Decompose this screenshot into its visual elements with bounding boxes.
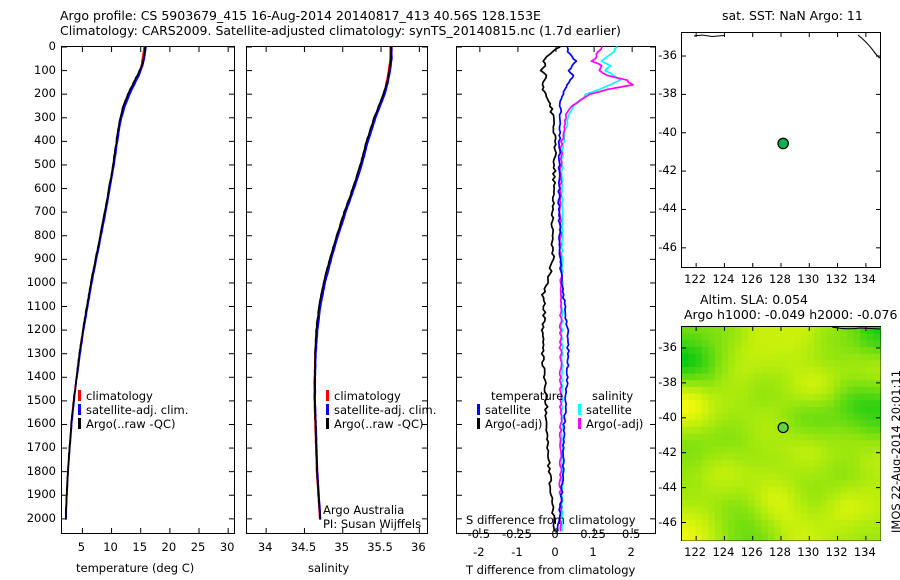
tick-label: -40 xyxy=(643,410,677,424)
tick-label: 0.25 xyxy=(574,527,612,541)
temperature-legend: climatologysatellite-adj. clim.Argo(..ra… xyxy=(78,389,188,431)
legend-item: climatology xyxy=(78,389,188,403)
tick-label: 128 xyxy=(768,545,792,559)
tick-label: 126 xyxy=(740,272,764,286)
tick-label: 15 xyxy=(131,540,149,554)
figure-title-line2: Climatology: CARS2009. Satellite-adjuste… xyxy=(60,23,621,38)
tick-label: 200 xyxy=(8,86,56,100)
tick-label: 128 xyxy=(768,272,792,286)
temperature-axis-label: temperature (deg C) xyxy=(76,561,194,575)
legend-label: climatology xyxy=(86,389,153,403)
tick-label: 122 xyxy=(683,545,707,559)
tick-label: -42 xyxy=(643,163,677,177)
tick-label: 132 xyxy=(825,545,849,559)
legend-label: satellite xyxy=(485,403,531,417)
tick-label: 800 xyxy=(8,228,56,242)
legend-label: satellite-adj. clim. xyxy=(86,403,188,417)
salinity-axis-label: salinity xyxy=(308,561,349,575)
sla-map-panel xyxy=(681,326,881,541)
tick-label: 400 xyxy=(8,133,56,147)
tick-label: 0 xyxy=(543,545,567,559)
sla-map-title-line1: Altim. SLA: 0.054 xyxy=(700,292,808,307)
tick-label: -42 xyxy=(643,445,677,459)
sla-map-title-line2: Argo h1000: -0.049 h2000: -0.076 xyxy=(684,307,897,322)
tick-label: -38 xyxy=(643,86,677,100)
legend-item: Argo(-adj) xyxy=(477,417,563,431)
legend-label: Argo(..raw -QC) xyxy=(334,417,424,431)
salinity-profile-panel xyxy=(246,46,428,534)
tick-label: 124 xyxy=(711,272,735,286)
legend-heading: temperature xyxy=(477,389,563,403)
legend-item: satellite-adj. clim. xyxy=(326,403,436,417)
tick-label: 134 xyxy=(853,272,877,286)
temperature-difference-axis-label: T difference from climatology xyxy=(466,563,635,577)
tick-label: -2 xyxy=(467,545,491,559)
temperature-profile-plot xyxy=(62,47,234,533)
tick-label: 20 xyxy=(160,540,178,554)
tick-label: 2000 xyxy=(8,511,56,525)
tick-label: 100 xyxy=(8,63,56,77)
tick-label: 34.5 xyxy=(287,540,319,554)
tick-label: 1500 xyxy=(8,393,56,407)
tick-label: 35.5 xyxy=(364,540,396,554)
tick-label: 10 xyxy=(102,540,120,554)
tick-label: -44 xyxy=(643,480,677,494)
tick-label: 1900 xyxy=(8,487,56,501)
tick-label: -44 xyxy=(643,201,677,215)
tick-label: -0.25 xyxy=(498,527,536,541)
tick-label: 0 xyxy=(536,527,574,541)
difference-temperature-legend: temperaturesatelliteArgo(-adj) xyxy=(477,389,563,431)
tick-label: 1600 xyxy=(8,416,56,430)
tick-label: 1200 xyxy=(8,322,56,336)
legend-color-swatch xyxy=(326,390,329,401)
difference-profile-plot xyxy=(457,47,655,533)
imos-timestamp: IMOS 22-Aug-2014 20:01:11 xyxy=(889,370,900,533)
difference-salinity-legend: salinitysatelliteArgo(-adj) xyxy=(578,389,643,431)
legend-label: climatology xyxy=(334,389,401,403)
tick-label: 5 xyxy=(72,540,90,554)
legend-color-swatch xyxy=(477,404,480,415)
tick-label: 126 xyxy=(740,545,764,559)
legend-label: Argo(-adj) xyxy=(586,417,643,431)
tick-label: 1800 xyxy=(8,464,56,478)
tick-label: 0 xyxy=(8,39,56,53)
legend-item: satellite xyxy=(578,403,643,417)
credit-line-2: PI: Susan Wijffels xyxy=(323,517,421,531)
legend-heading: salinity xyxy=(578,389,643,403)
tick-label: 1 xyxy=(581,545,605,559)
sla-map-plot xyxy=(682,327,880,540)
tick-label: 700 xyxy=(8,204,56,218)
legend-item: Argo(..raw -QC) xyxy=(78,417,188,431)
tick-label: 132 xyxy=(825,272,849,286)
legend-color-swatch xyxy=(78,418,81,429)
tick-label: 900 xyxy=(8,251,56,265)
credit-line-1: Argo Australia xyxy=(323,503,404,517)
tick-label: 36 xyxy=(402,540,434,554)
legend-color-swatch xyxy=(578,418,581,429)
legend-label: satellite xyxy=(586,403,632,417)
legend-label: Argo(-adj) xyxy=(485,417,542,431)
tick-label: -40 xyxy=(643,125,677,139)
legend-color-swatch xyxy=(78,390,81,401)
tick-label: 1000 xyxy=(8,275,56,289)
legend-item: climatology xyxy=(326,389,436,403)
tick-label: 124 xyxy=(711,545,735,559)
legend-item: Argo(-adj) xyxy=(578,417,643,431)
tick-label: 300 xyxy=(8,110,56,124)
tick-label: 2 xyxy=(619,545,643,559)
legend-color-swatch xyxy=(578,404,581,415)
tick-label: 1100 xyxy=(8,299,56,313)
sst-map-panel xyxy=(681,32,881,268)
legend-item: Argo(..raw -QC) xyxy=(326,417,436,431)
figure-title-line1: Argo profile: CS 5903679_415 16-Aug-2014… xyxy=(60,8,541,23)
tick-label: -46 xyxy=(643,515,677,529)
tick-label: -36 xyxy=(643,48,677,62)
tick-label: -36 xyxy=(643,340,677,354)
difference-profile-panel xyxy=(456,46,656,534)
tick-label: 122 xyxy=(683,272,707,286)
legend-item: satellite-adj. clim. xyxy=(78,403,188,417)
legend-color-swatch xyxy=(477,418,480,429)
salinity-difference-axis-label: S difference from climatology xyxy=(466,513,636,527)
tick-label: 34 xyxy=(249,540,281,554)
tick-label: -1 xyxy=(505,545,529,559)
tick-label: 1400 xyxy=(8,369,56,383)
tick-label: 130 xyxy=(796,545,820,559)
sst-map-plot xyxy=(682,33,880,267)
salinity-legend: climatologysatellite-adj. clim.Argo(..ra… xyxy=(326,389,436,431)
legend-color-swatch xyxy=(78,404,81,415)
tick-label: 1300 xyxy=(8,346,56,360)
tick-label: 134 xyxy=(853,545,877,559)
tick-label: -38 xyxy=(643,375,677,389)
tick-label: 1700 xyxy=(8,440,56,454)
sst-map-title: sat. SST: NaN Argo: 11 xyxy=(722,8,863,23)
legend-color-swatch xyxy=(326,404,329,415)
legend-item: satellite xyxy=(477,403,563,417)
tick-label: 130 xyxy=(796,272,820,286)
tick-label: 25 xyxy=(189,540,207,554)
tick-label: 0.5 xyxy=(612,527,650,541)
tick-label: 500 xyxy=(8,157,56,171)
tick-label: 30 xyxy=(218,540,236,554)
tick-label: 600 xyxy=(8,181,56,195)
legend-label: Argo(..raw -QC) xyxy=(86,417,176,431)
tick-label: 35 xyxy=(326,540,358,554)
temperature-profile-panel xyxy=(61,46,235,534)
tick-label: -46 xyxy=(643,240,677,254)
legend-label: satellite-adj. clim. xyxy=(334,403,436,417)
tick-label: -0.5 xyxy=(460,527,498,541)
legend-color-swatch xyxy=(326,418,329,429)
salinity-profile-plot xyxy=(247,47,427,533)
